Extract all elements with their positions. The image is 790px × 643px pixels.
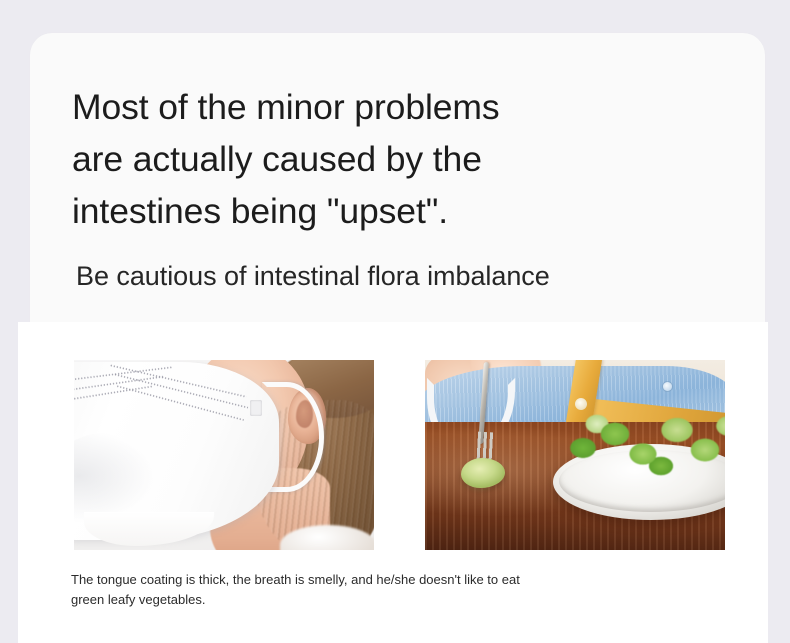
gallery-caption: The tongue coating is thick, the breath … [71, 570, 631, 609]
food-photo-scene [425, 360, 725, 550]
mask-photo-scene [74, 360, 374, 550]
hero-card: Most of the minor problems are actually … [30, 33, 765, 323]
headline-line-3: intestines being "upset". [72, 185, 692, 237]
image-gallery [74, 360, 725, 550]
mask-bottom-edge-shape [84, 512, 214, 546]
headline-line-1: Most of the minor problems [72, 81, 692, 133]
food-photo-inner [425, 360, 725, 550]
content-panel: The tongue coating is thick, the breath … [18, 322, 768, 643]
subheading: Be cautious of intestinal flora imbalanc… [76, 258, 550, 294]
page-root: Most of the minor problems are actually … [0, 0, 790, 643]
child-wearing-white-face-mask-image [74, 360, 374, 550]
mask-loop-tab-shape [250, 400, 262, 416]
mask-photo-inner [74, 360, 374, 550]
caption-line-1: The tongue coating is thick, the breath … [71, 570, 631, 590]
headline-line-2: are actually caused by the [72, 133, 692, 185]
broccoli-pile-shape [557, 404, 725, 480]
sweater-button-shape [663, 382, 672, 391]
child-eating-broccoli-at-table-image [425, 360, 725, 550]
page-title: Most of the minor problems are actually … [72, 81, 692, 237]
caption-line-2: green leafy vegetables. [71, 590, 631, 610]
